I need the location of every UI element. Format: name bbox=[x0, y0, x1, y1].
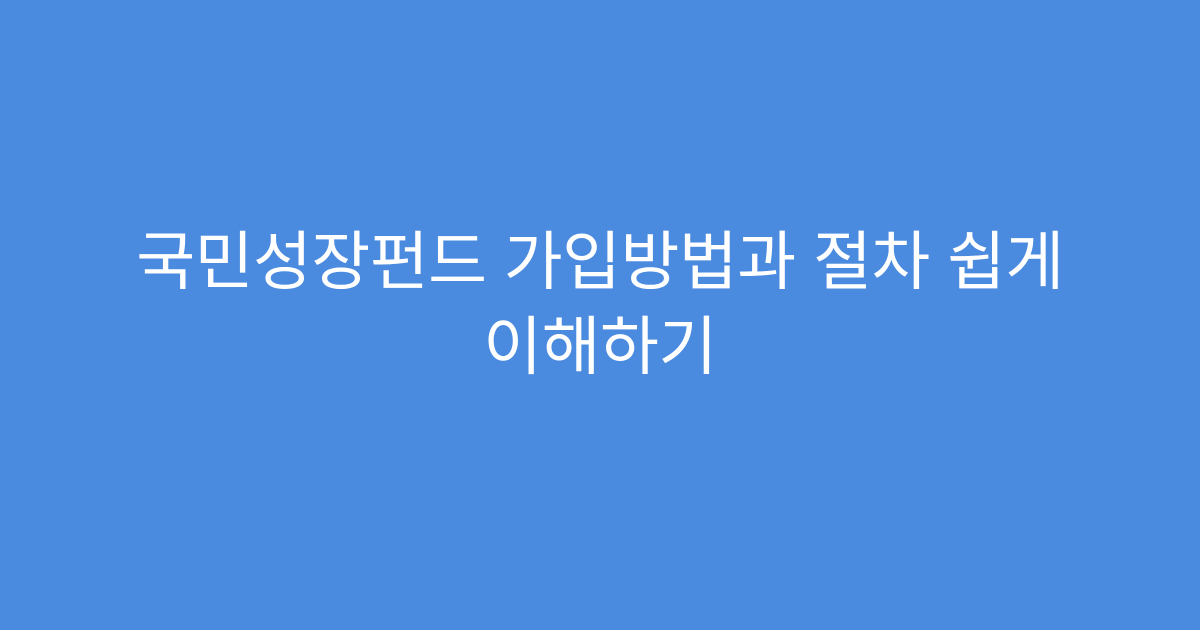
card-content: 국민성장펀드 가입방법과 절차 쉽게 이해하기 bbox=[100, 220, 1100, 390]
page-title: 국민성장펀드 가입방법과 절차 쉽게 이해하기 bbox=[100, 220, 1100, 390]
share-card: 국민성장펀드 가입방법과 절차 쉽게 이해하기 bbox=[0, 0, 1200, 630]
